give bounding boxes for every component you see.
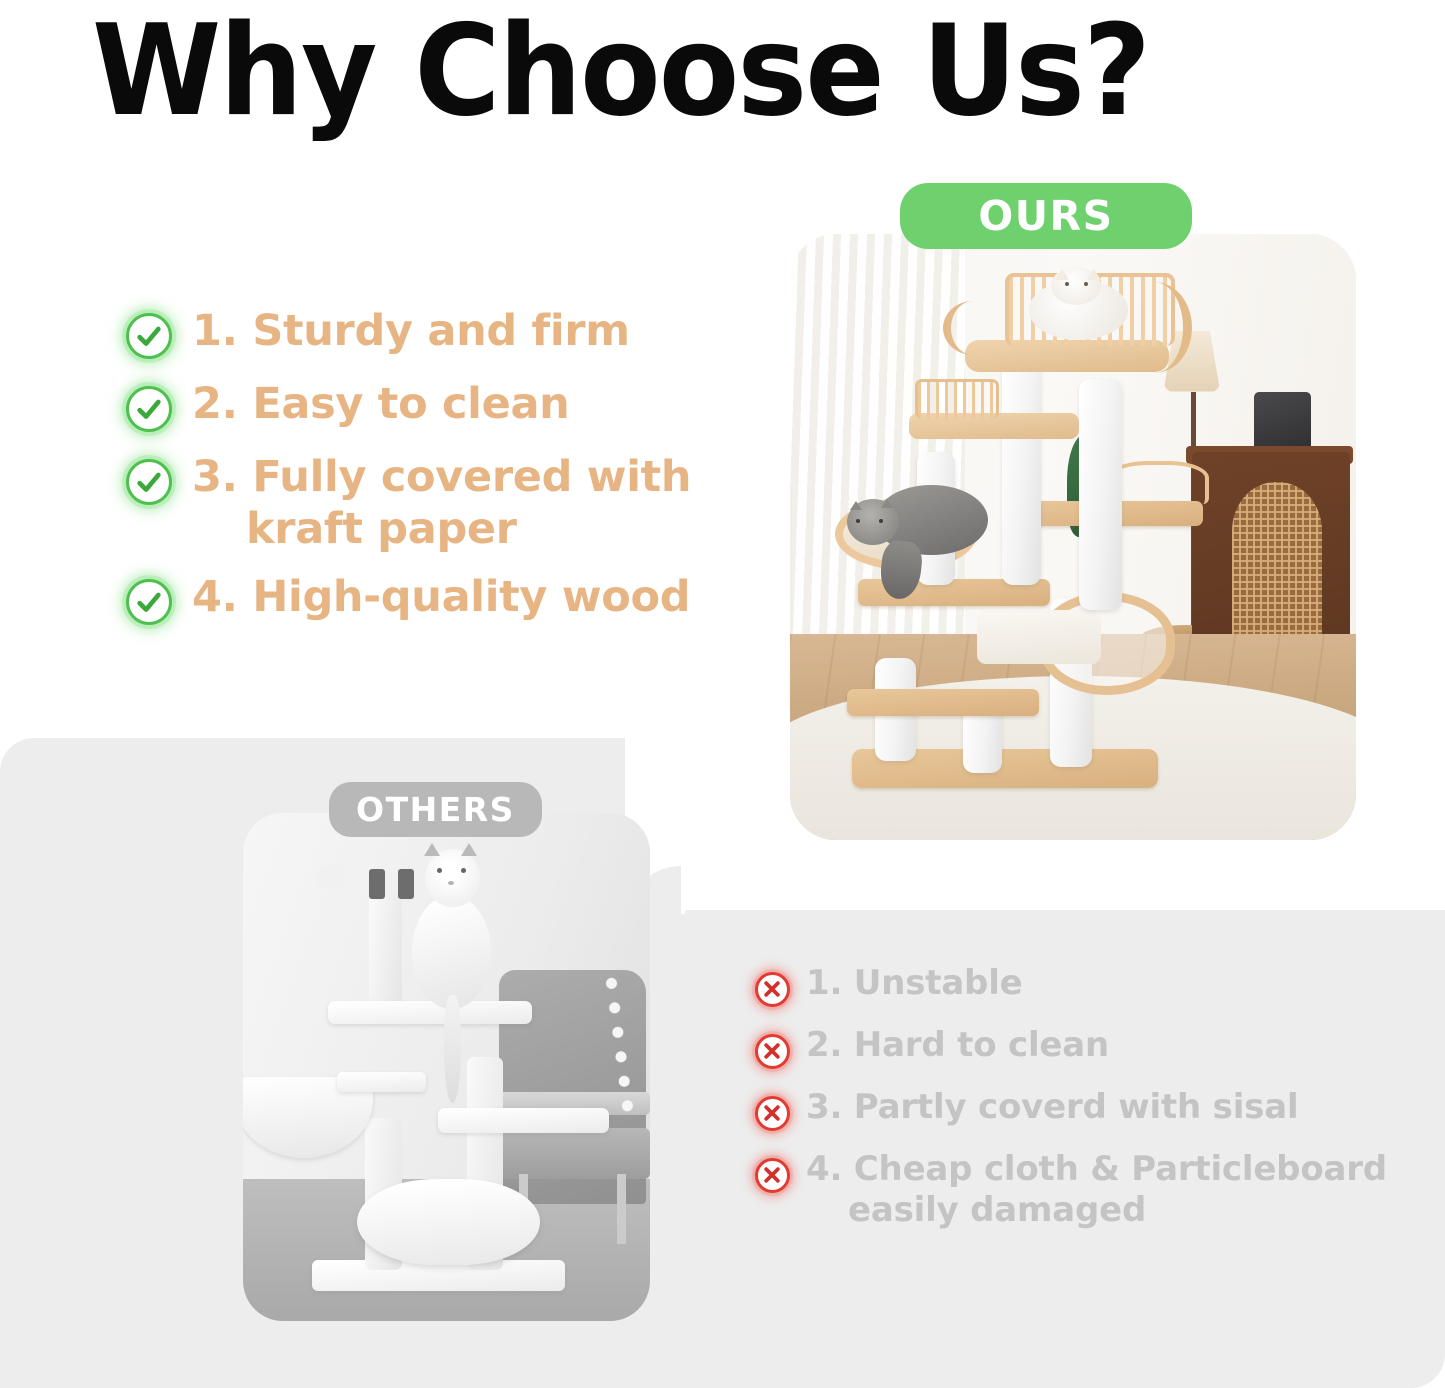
x-circle-icon: [752, 1155, 792, 1195]
x-circle-icon: [752, 1093, 792, 1133]
x-circle-icon: [752, 969, 792, 1009]
list-item-label-line2: easily damaged: [806, 1190, 1387, 1231]
list-item: 4. High-quality wood: [122, 571, 762, 629]
comparison-infographic: Why Choose Us?: [0, 0, 1445, 1388]
x-circle-icon: [752, 1031, 792, 1071]
ours-benefits-list: 1. Sturdy and firm 2. Easy to clean: [122, 305, 762, 644]
list-item-label: 4. Cheap cloth & Particleboard easily da…: [806, 1149, 1387, 1232]
list-item: 1. Unstable: [752, 963, 1422, 1009]
list-item: 4. Cheap cloth & Particleboard easily da…: [752, 1149, 1422, 1232]
list-item-label: 3. Fully covered with kraft paper: [192, 451, 691, 556]
others-drawbacks-list: 1. Unstable 2. Hard to clean: [752, 963, 1422, 1248]
others-photo: [243, 813, 650, 1321]
check-circle-icon: [122, 575, 176, 629]
list-item-label-line2: kraft paper: [192, 503, 691, 555]
list-item-label-line1: 3. Fully covered with: [192, 452, 691, 502]
cat-gray: [841, 470, 994, 591]
ours-photo: [790, 234, 1356, 840]
page-title: Why Choose Us?: [92, 2, 1149, 141]
badge-ours: OURS: [900, 183, 1192, 249]
list-item-label: 2. Easy to clean: [192, 378, 570, 430]
check-circle-icon: [122, 382, 176, 436]
cat-ragdoll: [398, 843, 504, 1016]
list-item-label-line1: 4. Cheap cloth & Particleboard: [806, 1149, 1387, 1189]
list-item: 3. Fully covered with kraft paper: [122, 451, 762, 556]
list-item-label: 2. Hard to clean: [806, 1025, 1109, 1066]
list-item: 3. Partly coverd with sisal: [752, 1087, 1422, 1133]
list-item-label: 4. High-quality wood: [192, 571, 690, 623]
list-item-label: 1. Sturdy and firm: [192, 305, 630, 357]
list-item: 1. Sturdy and firm: [122, 305, 762, 363]
list-item: 2. Hard to clean: [752, 1025, 1422, 1071]
list-item: 2. Easy to clean: [122, 378, 762, 436]
badge-others: OTHERS: [329, 782, 542, 837]
list-item-label: 1. Unstable: [806, 963, 1023, 1004]
cat-white: [1022, 267, 1135, 340]
check-circle-icon: [122, 455, 176, 509]
check-circle-icon: [122, 309, 176, 363]
list-item-label: 3. Partly coverd with sisal: [806, 1087, 1298, 1128]
